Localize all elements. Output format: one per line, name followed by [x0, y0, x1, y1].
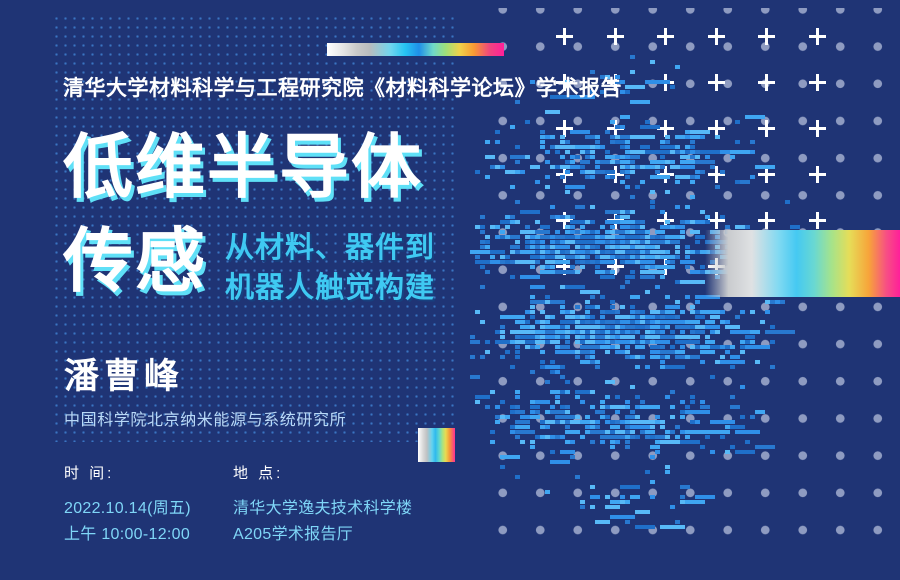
pixel-block — [565, 170, 570, 174]
pixel-block — [650, 190, 655, 194]
pixel-block — [625, 345, 630, 349]
pixel-block — [630, 100, 650, 104]
pixel-block — [555, 215, 560, 219]
pixel-block — [690, 220, 695, 224]
pixelated-face-graphic — [470, 40, 900, 560]
pixel-block — [545, 425, 550, 429]
pixel-block — [635, 415, 640, 419]
pixel-block — [745, 180, 750, 184]
pixel-block — [680, 485, 690, 489]
pixel-block — [500, 330, 505, 334]
pixel-block — [480, 215, 485, 219]
pixel-block — [555, 145, 575, 149]
pixel-block — [620, 500, 625, 504]
pixel-block — [660, 210, 665, 214]
pixel-block — [495, 130, 500, 134]
pixel-block — [665, 365, 685, 369]
pixel-block — [700, 360, 705, 364]
pixel-block — [680, 280, 705, 284]
pixel-block — [615, 410, 620, 414]
pixel-block — [515, 330, 530, 334]
pixel-block — [670, 405, 675, 409]
pixel-block — [710, 165, 715, 169]
pixel-block — [500, 230, 505, 234]
pixel-block — [680, 310, 685, 314]
pixel-block — [660, 425, 665, 429]
pixel-block — [500, 315, 525, 319]
pixel-block — [615, 425, 620, 429]
pixel-block — [770, 330, 795, 334]
pixel-block — [695, 160, 715, 164]
pixel-block — [540, 255, 545, 259]
pixel-block — [665, 135, 670, 139]
pixel-block — [645, 365, 650, 369]
pixel-block — [525, 320, 530, 324]
pixel-block — [660, 275, 665, 279]
pixel-block — [595, 305, 600, 309]
pixel-block — [640, 180, 645, 184]
pixel-block — [745, 345, 770, 349]
pixel-block — [505, 415, 510, 419]
pixel-block — [690, 155, 695, 159]
pixel-block — [745, 340, 750, 344]
pixel-block — [540, 145, 545, 149]
pixel-block — [545, 365, 560, 369]
pixel-block — [540, 400, 545, 404]
pixel-block — [525, 155, 530, 159]
pixel-block — [695, 230, 700, 234]
pixel-block — [540, 340, 560, 344]
pixel-block — [625, 140, 630, 144]
pixel-block — [705, 340, 715, 344]
pixel-block — [625, 145, 630, 149]
pixel-block — [600, 345, 610, 349]
pixel-block — [555, 255, 565, 259]
pixel-block — [550, 235, 555, 239]
pixel-block — [575, 205, 585, 209]
pixel-block — [560, 450, 575, 454]
pixel-block — [545, 230, 550, 234]
pixel-block — [590, 345, 595, 349]
pixel-block — [630, 255, 635, 259]
pixel-block — [590, 495, 600, 499]
pixel-block — [475, 255, 480, 259]
pixel-block — [725, 325, 740, 329]
pixel-block — [640, 125, 660, 129]
pixel-block — [705, 220, 710, 224]
pixel-block — [685, 205, 690, 209]
pixel-block — [575, 415, 580, 419]
pixel-block — [515, 390, 520, 394]
pixel-block — [675, 180, 680, 184]
pixel-block — [565, 245, 570, 249]
pixel-block — [690, 140, 695, 144]
pixel-block — [570, 130, 590, 134]
pixel-block — [720, 310, 725, 314]
pixel-block — [700, 170, 705, 174]
pixel-block — [735, 120, 740, 124]
pixel-block — [700, 310, 720, 314]
pixel-block — [535, 345, 540, 349]
pixel-block — [550, 265, 555, 269]
pixel-block — [650, 455, 655, 459]
pixel-block — [600, 410, 605, 414]
pixel-block — [660, 175, 665, 179]
pixel-block — [660, 360, 665, 364]
pixel-block — [725, 450, 730, 454]
pixel-block — [670, 505, 675, 509]
pixel-block — [545, 340, 550, 344]
pixel-block — [530, 310, 535, 314]
pixel-block — [615, 345, 620, 349]
pixel-block — [515, 340, 525, 344]
pixel-block — [695, 250, 700, 254]
pixel-block — [530, 300, 545, 304]
pixel-block — [555, 435, 560, 439]
pixel-block — [590, 350, 595, 354]
pixel-block — [760, 320, 765, 324]
pixel-block — [715, 185, 720, 189]
pixel-block — [550, 315, 555, 319]
pixel-block — [595, 425, 600, 429]
pixel-block — [610, 380, 615, 384]
pixel-block — [480, 320, 485, 324]
pixel-block — [545, 185, 550, 189]
pixel-block — [630, 270, 635, 274]
pixel-block — [650, 205, 655, 209]
pixel-block — [730, 395, 735, 399]
pixel-block — [640, 310, 645, 314]
pixel-block — [515, 410, 525, 414]
pixel-block — [470, 340, 480, 344]
pixel-block — [570, 455, 575, 459]
pixel-block — [670, 415, 675, 419]
pixel-block — [685, 245, 690, 249]
pixel-block — [550, 165, 570, 169]
pixel-block — [610, 515, 635, 519]
title-line-1: 低维半导体 — [63, 132, 423, 202]
pixel-block — [510, 365, 515, 369]
pixel-block — [750, 150, 755, 154]
pixel-block — [665, 340, 670, 344]
pixel-block — [515, 405, 520, 409]
pixel-block — [530, 440, 535, 444]
pixel-block — [690, 180, 695, 184]
pixel-block — [675, 245, 680, 249]
pixel-block — [515, 395, 520, 399]
pixel-block — [635, 155, 640, 159]
pixel-block — [655, 245, 660, 249]
pixel-block — [695, 175, 700, 179]
pixel-block — [600, 275, 615, 279]
pixel-block — [545, 490, 550, 494]
pixel-block — [645, 430, 655, 434]
pixel-block — [485, 270, 490, 274]
pixel-block — [565, 190, 570, 194]
pixel-block — [685, 295, 690, 299]
pixel-block — [710, 375, 715, 379]
pixel-block — [660, 355, 665, 359]
pixel-block — [550, 405, 555, 409]
pixel-block — [730, 355, 740, 359]
pixel-block — [615, 135, 620, 139]
pixel-block — [635, 525, 655, 529]
pixel-block — [565, 315, 575, 319]
pixel-block — [495, 420, 500, 424]
pixel-block — [625, 405, 630, 409]
pixel-block — [535, 410, 540, 414]
pixel-block — [685, 410, 710, 414]
pixel-block — [680, 345, 685, 349]
pixel-block — [530, 405, 540, 409]
pixel-block — [735, 315, 740, 319]
pixel-block — [670, 265, 675, 269]
side-gradient-band — [705, 230, 900, 297]
pixel-block — [640, 260, 655, 264]
pixel-block — [555, 230, 560, 234]
pixel-block — [590, 505, 595, 509]
pixel-block — [690, 130, 710, 134]
pixel-block — [625, 400, 630, 404]
pixel-block — [550, 215, 575, 219]
pixel-block — [745, 115, 765, 119]
pixel-block — [555, 240, 560, 244]
pixel-block — [720, 215, 725, 219]
pixel-block — [630, 170, 635, 174]
pixel-block — [685, 405, 690, 409]
pixel-block — [550, 205, 555, 209]
pixel-block — [740, 350, 745, 354]
pixel-block — [495, 405, 500, 409]
pixel-block — [665, 295, 670, 299]
pixel-block — [545, 160, 550, 164]
pixel-block — [680, 400, 685, 404]
pixel-block — [535, 260, 540, 264]
pixel-block — [705, 325, 720, 329]
pixel-block — [660, 525, 685, 529]
pixel-block — [580, 265, 585, 269]
pixel-block — [615, 405, 625, 409]
pixel-block — [640, 275, 655, 279]
pixel-block — [640, 235, 665, 239]
pixel-block — [545, 175, 550, 179]
pixel-block — [745, 225, 750, 229]
pixel-block — [590, 390, 595, 394]
pixel-block — [490, 440, 495, 444]
pixel-block — [675, 425, 680, 429]
pixel-block — [675, 205, 680, 209]
pixel-block — [610, 430, 615, 434]
pixel-block — [550, 360, 555, 364]
small-gradient-square — [418, 428, 455, 462]
pixel-block — [575, 430, 580, 434]
pixel-block — [620, 340, 625, 344]
pixel-block — [485, 140, 490, 144]
pixel-block — [660, 230, 665, 234]
pixel-block — [540, 310, 545, 314]
pixel-block — [605, 350, 610, 354]
pixel-block — [705, 335, 710, 339]
pixel-block — [695, 315, 705, 319]
pixel-block — [595, 520, 610, 524]
pixel-block — [510, 185, 515, 189]
pixel-block — [615, 310, 620, 314]
pixel-block — [560, 305, 565, 309]
pixel-block — [765, 310, 770, 314]
pixel-block — [630, 275, 635, 279]
pixel-block — [510, 125, 515, 129]
pixel-block — [655, 445, 660, 449]
pixel-block — [600, 225, 605, 229]
speaker-name: 潘曹峰 — [64, 348, 184, 399]
pixel-block — [620, 215, 630, 219]
pixel-block — [755, 165, 775, 169]
pixel-block — [485, 245, 490, 249]
pixel-block — [485, 240, 490, 244]
pixel-block — [675, 325, 690, 329]
pixel-block — [510, 275, 515, 279]
pixel-block — [565, 285, 585, 289]
pixel-block — [595, 420, 600, 424]
pixel-block — [685, 500, 705, 504]
pixel-block — [525, 225, 530, 229]
pixel-block — [565, 425, 570, 429]
pixel-block — [570, 265, 575, 269]
pixel-block — [590, 405, 595, 409]
pixel-block — [735, 430, 760, 434]
pixel-block — [680, 495, 685, 499]
pixel-block — [625, 440, 630, 444]
pixel-block — [565, 380, 570, 384]
pixel-block — [470, 355, 475, 359]
pixel-block — [600, 295, 605, 299]
pixel-block — [625, 415, 635, 419]
pixel-block — [725, 225, 730, 229]
pixel-block — [585, 240, 590, 244]
pixel-block — [730, 365, 735, 369]
pixel-block — [755, 445, 775, 449]
pixel-block — [630, 305, 635, 309]
pixel-block — [730, 405, 740, 409]
pixel-block — [650, 495, 655, 499]
pixel-block — [665, 190, 670, 194]
pixel-block — [655, 450, 660, 454]
pixel-block — [485, 340, 490, 344]
pixel-block — [655, 285, 660, 289]
pixel-block — [595, 140, 600, 144]
pixel-block — [545, 295, 550, 299]
pixel-block — [625, 165, 630, 169]
pixel-block — [480, 225, 485, 229]
pixel-block — [610, 170, 615, 174]
pixel-block — [695, 420, 700, 424]
pixel-block — [485, 350, 490, 354]
pixel-block — [580, 290, 600, 294]
pixel-block — [560, 135, 565, 139]
pixel-block — [640, 220, 645, 224]
pixel-block — [480, 265, 485, 269]
pixel-block — [545, 135, 550, 139]
pixel-block — [540, 360, 545, 364]
pixel-block — [650, 200, 655, 204]
pixel-block — [755, 410, 765, 414]
pixel-block — [475, 400, 480, 404]
pixel-block — [710, 450, 715, 454]
pixel-block — [475, 170, 480, 174]
place-room: A205学术报告厅 — [233, 522, 412, 548]
pixel-block — [640, 400, 645, 404]
pixel-block — [610, 445, 615, 449]
pixel-block — [595, 230, 600, 234]
speaker-affiliation: 中国科学院北京纳米能源与系统研究所 — [64, 406, 346, 430]
pixel-block — [630, 420, 645, 424]
pixel-block — [690, 305, 695, 309]
pixel-block — [640, 345, 645, 349]
pixel-block — [675, 65, 680, 69]
pixel-block — [520, 275, 540, 279]
pixel-block — [730, 445, 735, 449]
pixel-block — [685, 435, 690, 439]
pixel-block — [590, 430, 605, 434]
pixel-block — [770, 325, 775, 329]
pixel-block — [650, 480, 655, 484]
pixel-block — [700, 445, 705, 449]
pixel-block — [700, 135, 705, 139]
pixel-block — [670, 430, 675, 434]
pixel-block — [635, 150, 645, 154]
pixel-block — [720, 355, 725, 359]
pixel-block — [520, 440, 525, 444]
pixel-block — [700, 150, 720, 154]
pixel-block — [585, 415, 590, 419]
pixel-block — [545, 225, 550, 229]
pixel-block — [475, 395, 490, 399]
pixel-block — [685, 255, 690, 259]
pixel-block — [630, 295, 640, 299]
pixel-block — [480, 230, 485, 234]
pixel-block — [505, 225, 510, 229]
pixel-block — [530, 415, 540, 419]
pixel-block — [490, 390, 495, 394]
pixel-block — [515, 160, 520, 164]
pixel-block — [530, 285, 545, 289]
pixel-block — [525, 120, 530, 124]
pixel-block — [585, 300, 590, 304]
pixel-block — [680, 165, 695, 169]
pixel-block — [640, 225, 645, 229]
pixel-block — [595, 245, 600, 249]
pixel-block — [605, 150, 610, 154]
pixel-block — [665, 395, 670, 399]
pixel-block — [555, 415, 575, 419]
pixel-block — [555, 395, 560, 399]
pixel-block — [605, 495, 610, 499]
pixel-block — [595, 135, 600, 139]
pixel-block — [590, 355, 595, 359]
pixel-block — [600, 400, 605, 404]
pixel-block — [530, 305, 535, 309]
pixel-block — [645, 165, 655, 169]
pixel-block — [515, 245, 520, 249]
pixel-block — [620, 485, 640, 489]
pixel-block — [520, 250, 535, 254]
pixel-block — [645, 235, 650, 239]
pixel-block — [685, 265, 690, 269]
pixel-block — [610, 435, 635, 439]
pixel-block — [530, 295, 535, 299]
pixel-block — [685, 335, 690, 339]
pixel-block — [625, 220, 630, 224]
